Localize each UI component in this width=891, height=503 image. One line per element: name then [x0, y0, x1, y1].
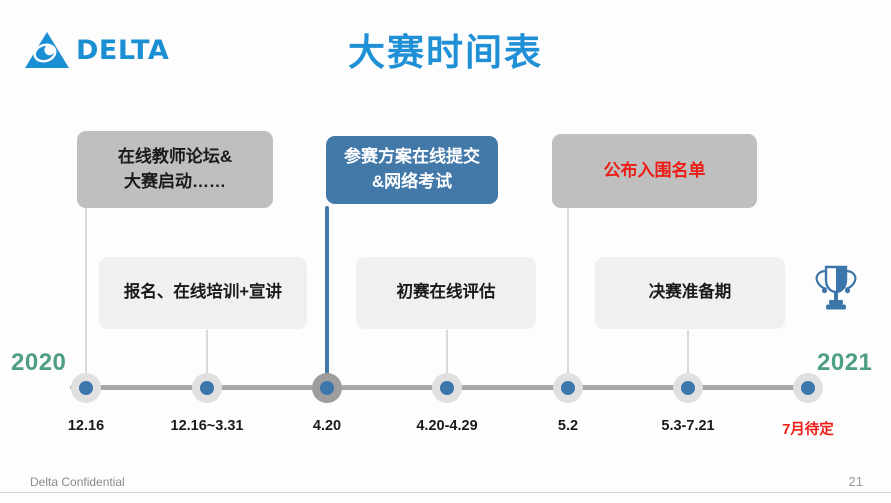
card-line-2: &网络考试: [344, 170, 480, 195]
timeline-label-3: 4.20: [313, 418, 341, 434]
page-title: 大赛时间表: [0, 22, 891, 76]
timeline-label-5: 5.2: [558, 418, 578, 434]
timeline-node-2[interactable]: [192, 373, 222, 403]
milestone-card-final-preparation[interactable]: 决赛准备期: [595, 257, 785, 329]
node-dot: [79, 381, 93, 395]
timeline-label-6: 5.3-7.21: [661, 418, 714, 434]
timeline-label-7: 7月待定: [782, 418, 834, 439]
timeline-node-7[interactable]: [793, 373, 823, 403]
milestone-card-online-submission[interactable]: 参赛方案在线提交 &网络考试: [326, 136, 498, 204]
footer-divider: [0, 492, 891, 493]
timeline-node-1[interactable]: [71, 373, 101, 403]
timeline-node-4[interactable]: [432, 373, 462, 403]
timeline-node-6[interactable]: [673, 373, 703, 403]
node-dot: [561, 381, 575, 395]
timeline-label-1: 12.16: [68, 418, 104, 434]
card-text: 公布入围名单: [604, 159, 706, 184]
node-dot: [440, 381, 454, 395]
card-text: 在线教师论坛& 大赛启动……: [118, 145, 232, 194]
timeline-node-5[interactable]: [553, 373, 583, 403]
connector-card-3: [567, 208, 569, 388]
milestone-card-registration-training[interactable]: 报名、在线培训+宣讲: [99, 257, 307, 329]
node-dot: [801, 381, 815, 395]
connector-card-1: [85, 208, 87, 388]
connector-card-2: [325, 206, 329, 388]
timeline-label-2: 12.16~3.31: [171, 418, 244, 434]
card-line-1: 报名、在线培训+宣讲: [124, 281, 282, 305]
year-start-label: 2020: [11, 349, 66, 377]
slide-canvas: DELTA 大赛时间表 在线教师论坛& 大赛启动…… 参赛方案在线提交 &网络考…: [0, 0, 891, 503]
card-line-1: 在线教师论坛&: [118, 145, 232, 170]
milestone-card-teacher-forum[interactable]: 在线教师论坛& 大赛启动……: [77, 131, 273, 208]
card-line-1: 公布入围名单: [604, 159, 706, 184]
card-line-1: 初赛在线评估: [397, 281, 496, 305]
node-dot: [681, 381, 695, 395]
card-line-2: 大赛启动……: [118, 170, 232, 195]
milestone-card-preliminary-review[interactable]: 初赛在线评估: [356, 257, 536, 329]
timeline-label-4: 4.20-4.29: [416, 418, 477, 434]
card-text: 参赛方案在线提交 &网络考试: [344, 145, 480, 194]
page-number: 21: [849, 474, 863, 489]
card-line-1: 决赛准备期: [649, 281, 732, 305]
card-line-1: 参赛方案在线提交: [344, 145, 480, 170]
trophy-icon: [808, 262, 864, 319]
node-dot: [320, 381, 334, 395]
node-dot: [200, 381, 214, 395]
milestone-card-shortlist[interactable]: 公布入围名单: [552, 134, 757, 208]
confidential-notice: Delta Confidential: [30, 475, 125, 489]
timeline-node-3[interactable]: [312, 373, 342, 403]
year-end-label: 2021: [817, 349, 872, 377]
